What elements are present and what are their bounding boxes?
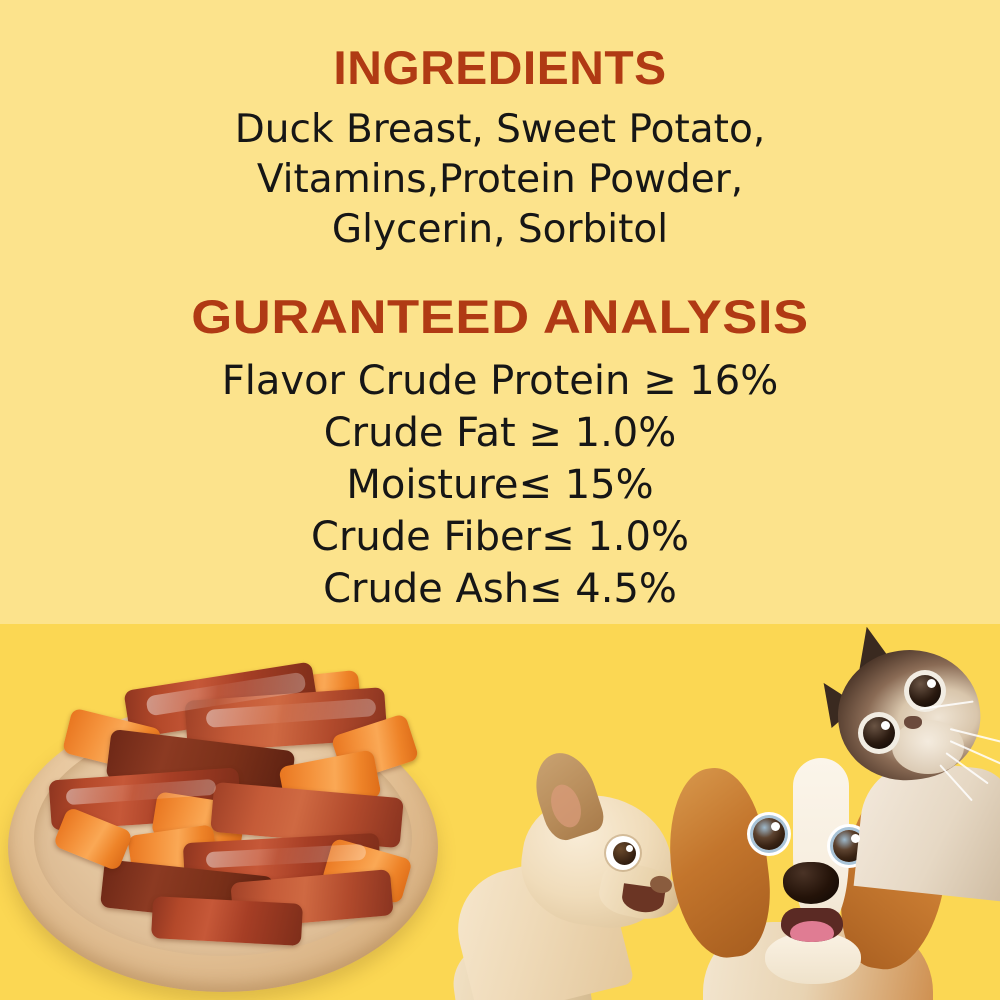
himalayan-cat [800,624,1000,874]
guaranteed-analysis-heading: GURANTEED ANALYSIS [0,293,1000,340]
analysis-line-crude-fat: Crude Fat ≥ 1.0% [0,407,1000,459]
ingredients-line-3: Glycerin, Sorbitol [0,205,1000,255]
nutrition-text-panel: INGREDIENTS Duck Breast, Sweet Potato, V… [0,0,1000,624]
chihuahua-eye [606,836,640,870]
ingredients-line-2: Vitamins,Protein Powder, [0,155,1000,205]
analysis-line-crude-protein: Flavor Crude Protein ≥ 16% [0,355,1000,407]
analysis-line-moisture: Moisture≤ 15% [0,459,1000,511]
ingredients-heading: INGREDIENTS [0,44,1000,91]
spaniel-mouth [781,908,843,942]
analysis-line-crude-fiber: Crude Fiber≤ 1.0% [0,511,1000,563]
label-page: INGREDIENTS Duck Breast, Sweet Potato, V… [0,0,1000,1000]
treat-strip-stack [36,662,418,962]
analysis-line-crude-ash: Crude Ash≤ 4.5% [0,563,1000,615]
guaranteed-analysis-list: Flavor Crude Protein ≥ 16% Crude Fat ≥ 1… [0,355,1000,615]
product-photo-band [0,624,1000,1000]
cat-body [854,757,1000,902]
treats-on-wooden-plate [8,662,438,992]
spaniel-left-eye [747,812,791,856]
spaniel-tongue [790,921,834,942]
ingredients-line-1: Duck Breast, Sweet Potato, [0,105,1000,155]
ingredients-list: Duck Breast, Sweet Potato, Vitamins,Prot… [0,105,1000,255]
cat-nose [904,716,922,729]
cat-lower-eye [858,712,900,754]
